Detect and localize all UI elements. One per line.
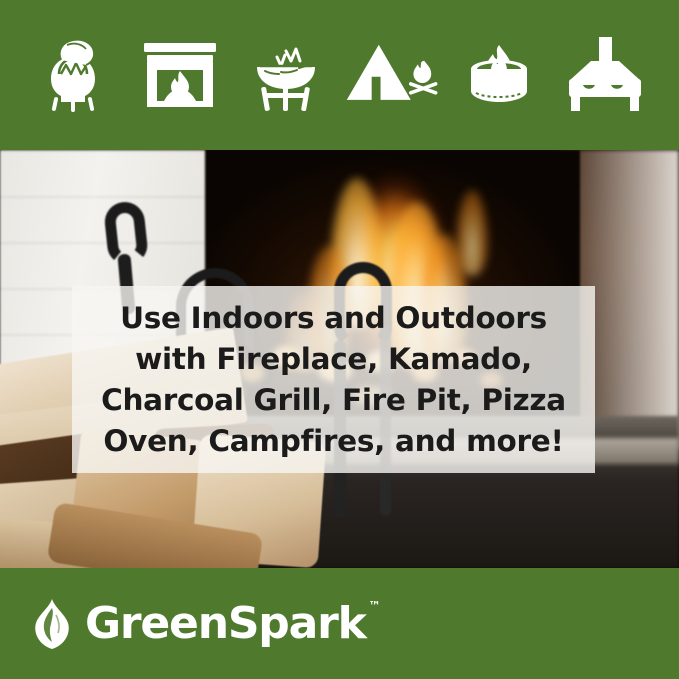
fireplace-icon	[132, 33, 228, 117]
brand-footer: GreenSpark™	[0, 568, 679, 679]
flame-leaf-icon	[30, 598, 74, 650]
pizza-oven-icon	[557, 33, 653, 117]
product-infographic: Use Indoors and Outdoors with Fireplace,…	[0, 0, 679, 679]
trademark-symbol: ™	[369, 600, 381, 612]
brand-wordmark: GreenSpark™	[85, 602, 366, 646]
headline-overlay: Use Indoors and Outdoors with Fireplace,…	[72, 286, 595, 473]
brand-name: GreenSpark	[85, 598, 366, 649]
use-case-icon-band	[0, 0, 679, 150]
headline-line-2: with Fireplace, Kamado,	[135, 339, 532, 380]
tent-campfire-icon	[345, 33, 441, 117]
charcoal-grill-icon	[238, 33, 334, 117]
headline-line-1: Use Indoors and Outdoors	[120, 298, 547, 339]
headline-line-3: Charcoal Grill, Fire Pit, Pizza	[101, 380, 566, 421]
fire-pit-icon	[451, 33, 547, 117]
headline-line-4: Oven, Campfires, and more!	[103, 421, 563, 462]
kamado-grill-icon	[26, 33, 122, 117]
